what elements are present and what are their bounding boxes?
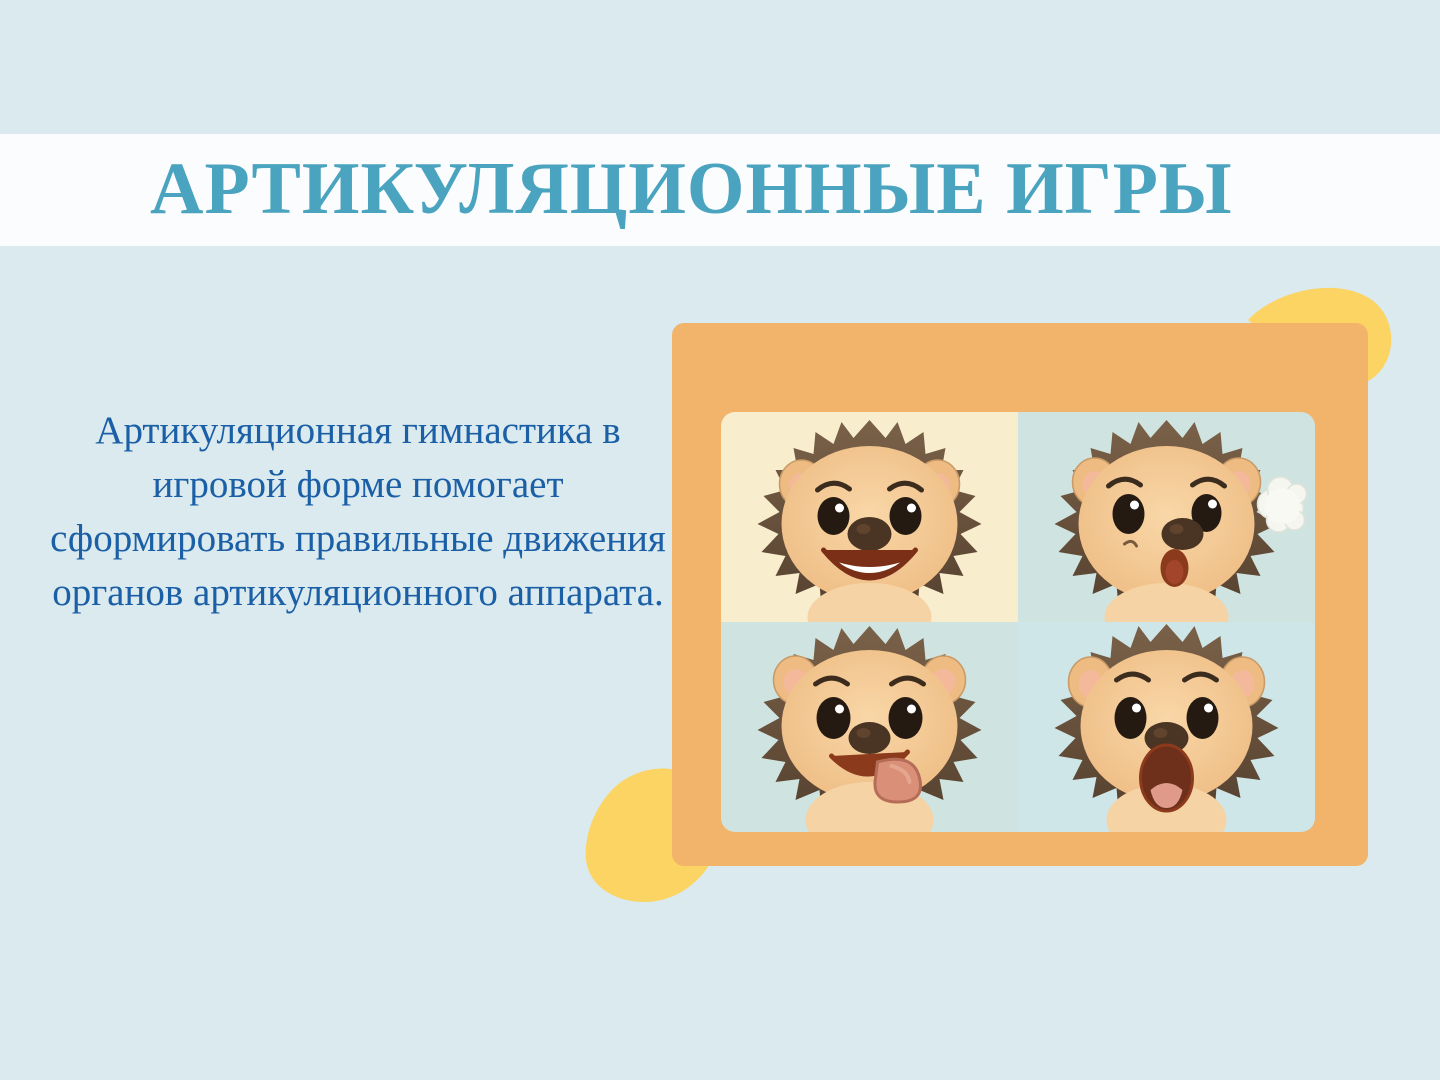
hedgehog-smiling-card <box>721 412 1018 622</box>
hedgehog-open-mouth-card <box>1018 622 1315 832</box>
body-paragraph: Артикуляционная гимнастика в игровой фор… <box>48 404 668 620</box>
hedgehog-blowing-card <box>1018 412 1315 622</box>
slide: АРТИКУЛЯЦИОННЫЕ ИГРЫ Артикуляционная гим… <box>0 0 1440 1080</box>
page-title: АРТИКУЛЯЦИОННЫЕ ИГРЫ <box>150 139 1250 239</box>
hedgehog-tongue-out-card <box>721 622 1018 832</box>
hedgehog-card-grid <box>721 412 1315 832</box>
